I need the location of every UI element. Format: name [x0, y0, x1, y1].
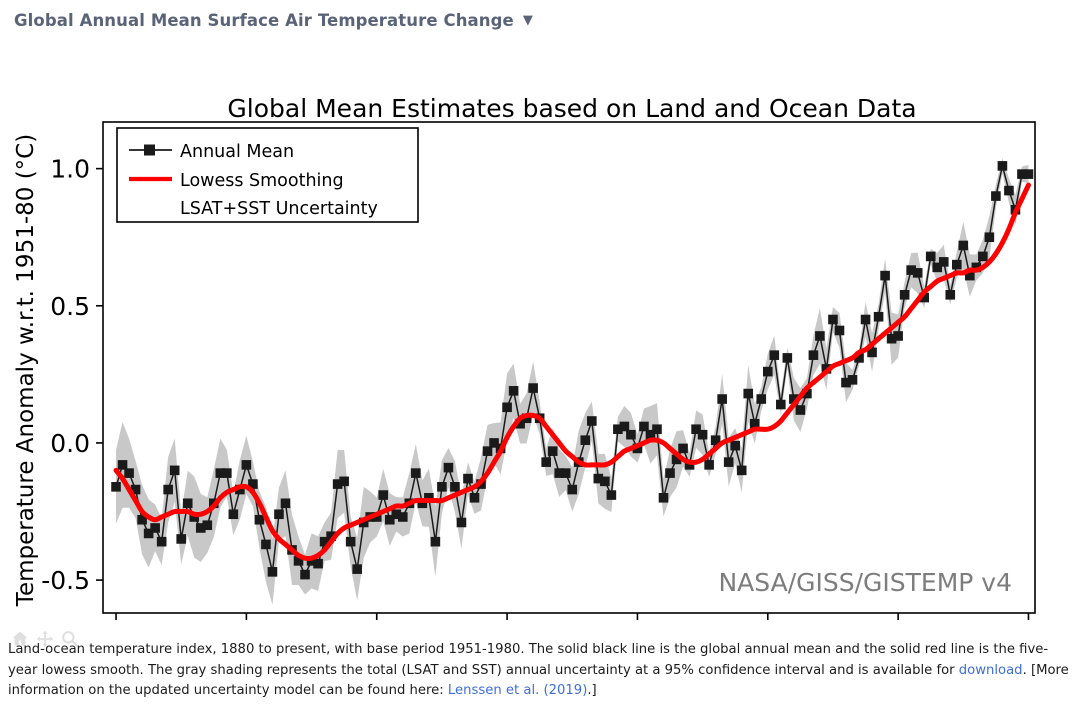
data-point-marker — [763, 367, 773, 377]
data-point-marker — [1004, 186, 1014, 196]
lenssen-reference-link[interactable]: Lenssen et al. (2019) — [448, 683, 587, 698]
chart-title: Global Mean Estimates based on Land and … — [227, 94, 916, 123]
data-point-marker — [998, 161, 1008, 171]
data-point-marker — [945, 290, 955, 300]
data-point-marker — [176, 534, 186, 544]
y-axis-ticks: -0.50.00.51.0 — [41, 155, 103, 595]
data-point-marker — [339, 477, 349, 487]
data-point-marker — [378, 490, 388, 500]
data-point-marker — [170, 466, 180, 476]
y-tick-label: 0.5 — [50, 292, 90, 321]
data-point-marker — [717, 394, 727, 404]
data-point-marker — [398, 512, 408, 522]
chevron-down-icon[interactable]: ▼ — [523, 14, 533, 27]
legend-label-annual-mean: Annual Mean — [180, 142, 294, 162]
data-point-marker — [678, 444, 688, 454]
data-point-marker — [952, 260, 962, 270]
data-point-marker — [893, 331, 903, 341]
annual-mean-markers — [111, 161, 1033, 579]
data-point-marker — [261, 540, 271, 550]
data-point-marker — [828, 315, 838, 325]
data-point-marker — [313, 559, 323, 569]
annual-mean-line — [116, 166, 1028, 575]
data-point-marker — [463, 474, 473, 484]
data-point-marker — [985, 232, 995, 242]
data-point-marker — [815, 331, 825, 341]
data-point-marker — [528, 383, 538, 393]
data-point-marker — [874, 312, 884, 322]
legend-label-uncertainty: LSAT+SST Uncertainty — [180, 199, 378, 219]
data-point-marker — [926, 252, 936, 262]
data-point-marker — [561, 468, 571, 478]
data-point-marker — [978, 252, 988, 262]
data-point-marker — [118, 460, 128, 470]
data-point-marker — [411, 468, 421, 478]
data-point-marker — [743, 389, 753, 399]
y-tick-label: -0.5 — [41, 566, 90, 595]
annual-mean-series — [116, 166, 1028, 575]
data-point-marker — [580, 435, 590, 445]
download-link[interactable]: download — [959, 663, 1023, 678]
data-point-marker — [457, 518, 467, 528]
data-point-marker — [502, 402, 512, 412]
data-point-marker — [509, 386, 519, 396]
x-tick-label: 1960 — [606, 621, 670, 625]
x-tick-label: 1940 — [475, 621, 539, 625]
legend-marker-annual-mean — [144, 145, 155, 156]
x-tick-label: 2000 — [866, 621, 930, 625]
data-point-marker — [268, 567, 278, 577]
panel-header: Global Annual Mean Surface Air Temperatu… — [0, 0, 1082, 40]
data-point-marker — [157, 537, 167, 547]
data-point-marker — [704, 460, 714, 470]
data-point-marker — [274, 509, 284, 519]
data-point-marker — [450, 482, 460, 492]
x-tick-label: 1980 — [736, 621, 800, 625]
x-tick-label: 2020 — [997, 621, 1061, 625]
data-point-marker — [202, 520, 212, 530]
data-point-marker — [150, 523, 160, 533]
data-point-marker — [809, 350, 819, 360]
data-point-marker — [939, 257, 949, 267]
x-axis-ticks: 18801900192019401960198020002020 — [84, 613, 1060, 625]
data-point-marker — [959, 241, 969, 251]
temperature-anomaly-chart: Global Mean Estimates based on Land and … — [0, 40, 1082, 625]
legend-label-lowess: Lowess Smoothing — [180, 171, 344, 191]
data-point-marker — [796, 405, 806, 415]
data-point-marker — [776, 400, 786, 410]
data-point-marker — [163, 485, 173, 495]
data-point-marker — [111, 482, 121, 492]
data-point-marker — [600, 477, 610, 487]
data-point-marker — [587, 416, 597, 426]
data-point-marker — [913, 268, 923, 278]
data-point-marker — [639, 422, 649, 432]
data-point-marker — [848, 375, 858, 385]
data-point-marker — [756, 394, 766, 404]
data-point-marker — [346, 537, 356, 547]
uncertainty-band-area — [116, 158, 1028, 605]
data-point-marker — [861, 315, 871, 325]
data-point-marker — [124, 468, 134, 478]
data-point-marker — [659, 493, 669, 503]
data-point-marker — [835, 326, 845, 336]
chart-figure: Global Mean Estimates based on Land and … — [0, 40, 1082, 625]
data-point-marker — [255, 515, 265, 525]
data-point-marker — [548, 446, 558, 456]
chart-legend: Annual Mean Lowess Smoothing LSAT+SST Un… — [117, 128, 418, 222]
x-tick-label: 1900 — [215, 621, 279, 625]
y-tick-label: 0.0 — [50, 429, 90, 458]
data-point-marker — [300, 570, 310, 580]
data-point-marker — [242, 460, 252, 470]
data-point-marker — [620, 422, 630, 432]
data-point-marker — [541, 457, 551, 467]
data-point-marker — [991, 191, 1001, 201]
y-axis-label: Temperature Anomaly w.r.t. 1951-80 (°C) — [13, 134, 39, 607]
data-point-marker — [652, 424, 662, 434]
data-point-marker — [724, 457, 734, 467]
data-point-marker — [665, 468, 675, 478]
data-point-marker — [431, 537, 441, 547]
caption-text-1: Land-ocean temperature index, 1880 to pr… — [8, 642, 1048, 678]
watermark-label: NASA/GISS/GISTEMP v4 — [718, 568, 1012, 597]
uncertainty-band — [116, 158, 1028, 605]
data-point-marker — [437, 482, 447, 492]
data-point-marker — [607, 490, 617, 500]
data-point-marker — [470, 493, 480, 503]
data-point-marker — [900, 290, 910, 300]
y-tick-label: 1.0 — [50, 155, 90, 184]
data-point-marker — [222, 468, 232, 478]
data-point-marker — [783, 353, 793, 363]
data-point-marker — [229, 509, 239, 519]
x-tick-label: 1880 — [84, 621, 148, 625]
data-point-marker — [698, 430, 708, 440]
data-point-marker — [770, 350, 780, 360]
caption-text-3: .] — [587, 683, 596, 698]
figure-caption: Land-ocean temperature index, 1880 to pr… — [8, 640, 1072, 702]
data-point-marker — [567, 485, 577, 495]
data-point-marker — [483, 446, 493, 456]
data-point-marker — [626, 430, 636, 440]
data-point-marker — [737, 466, 747, 476]
data-point-marker — [183, 498, 193, 508]
data-point-marker — [352, 564, 362, 574]
data-point-marker — [880, 271, 890, 281]
page-title: Global Annual Mean Surface Air Temperatu… — [14, 11, 514, 30]
data-point-marker — [281, 498, 291, 508]
data-point-marker — [730, 441, 740, 451]
data-point-marker — [1024, 169, 1034, 179]
data-point-marker — [444, 463, 454, 473]
x-tick-label: 1920 — [345, 621, 409, 625]
